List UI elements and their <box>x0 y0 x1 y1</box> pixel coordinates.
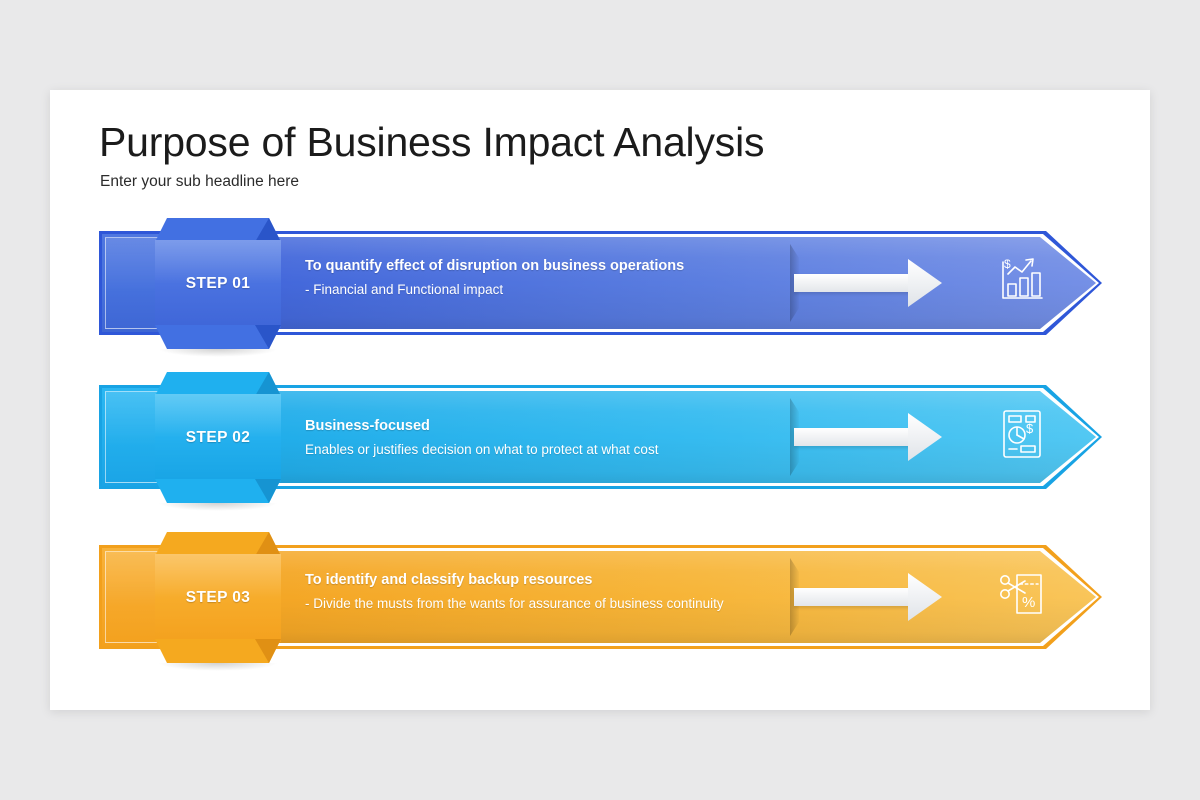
slide-canvas: Purpose of Business Impact Analysis Ente… <box>0 0 1200 800</box>
badge-tab-top <box>155 372 281 396</box>
badge-panel: STEP 03 <box>155 554 281 642</box>
badge-panel: STEP 02 <box>155 394 281 482</box>
badge-label: STEP 03 <box>186 589 251 607</box>
step-row-1[interactable]: To quantify effect of disruption on busi… <box>0 218 1200 378</box>
arrow-head <box>908 413 942 461</box>
badge-label: STEP 01 <box>186 275 251 293</box>
badge-tab-top <box>155 218 281 242</box>
report-pie-chart-dollar-icon: $ <box>995 402 1049 466</box>
step-text-2: Business-focused Enables or justifies de… <box>305 416 785 460</box>
step-row-3[interactable]: To identify and classify backup resource… <box>0 532 1200 692</box>
step-subtext: - Divide the musts from the wants for as… <box>305 594 785 614</box>
step-row-2[interactable]: Business-focused Enables or justifies de… <box>0 372 1200 532</box>
step-heading: To quantify effect of disruption on busi… <box>305 256 785 276</box>
arrow-shaft <box>794 428 918 446</box>
svg-text:%: % <box>1022 594 1035 611</box>
progress-arrow-2 <box>790 412 942 462</box>
page-title: Purpose of Business Impact Analysis <box>99 118 764 166</box>
arrow-head <box>908 573 942 621</box>
badge-tab-top <box>155 532 281 556</box>
svg-text:$: $ <box>1026 421 1034 436</box>
badge-tab-bottom <box>155 479 281 503</box>
step-badge-1[interactable]: STEP 01 <box>155 218 281 349</box>
step-badge-3[interactable]: STEP 03 <box>155 532 281 663</box>
step-heading: To identify and classify backup resource… <box>305 570 785 590</box>
scissors-coupon-percent-icon: % <box>995 562 1049 626</box>
badge-tab-bottom <box>155 325 281 349</box>
badge-label: STEP 02 <box>186 429 251 447</box>
badge-shadow <box>158 349 278 357</box>
badge-shadow <box>158 663 278 671</box>
step-subtext: Enables or justifies decision on what to… <box>305 440 785 460</box>
step-text-1: To quantify effect of disruption on busi… <box>305 256 785 300</box>
badge-tab-bottom <box>155 639 281 663</box>
page-subtitle: Enter your sub headline here <box>100 173 299 191</box>
arrow-shaft <box>794 274 918 292</box>
step-subtext: - Financial and Functional impact <box>305 280 785 300</box>
step-badge-2[interactable]: STEP 02 <box>155 372 281 503</box>
arrow-shaft <box>794 588 918 606</box>
progress-arrow-3 <box>790 572 942 622</box>
bar-chart-dollar-growth-icon: $ <box>995 248 1049 312</box>
step-text-3: To identify and classify backup resource… <box>305 570 785 614</box>
arrow-head <box>908 259 942 307</box>
step-heading: Business-focused <box>305 416 785 436</box>
progress-arrow-1 <box>790 258 942 308</box>
svg-text:$: $ <box>1004 257 1011 271</box>
badge-panel: STEP 01 <box>155 240 281 328</box>
badge-shadow <box>158 503 278 511</box>
